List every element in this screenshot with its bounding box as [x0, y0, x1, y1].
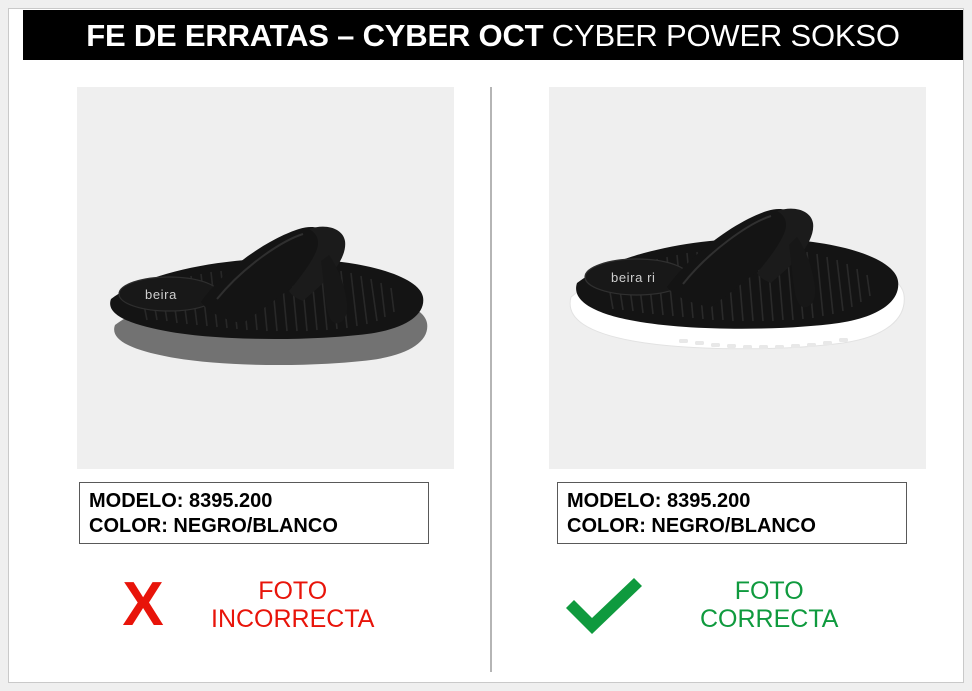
header-bar: FE DE ERRATAS – CYBER OCT CYBER POWER SO…: [23, 10, 963, 60]
verdict-text-incorrect: FOTO INCORRECTA: [211, 577, 374, 633]
page-title-bold: FE DE ERRATAS – CYBER OCT: [86, 18, 543, 53]
cross-icon-glyph: X: [122, 574, 163, 636]
product-photo-correct: beira ri: [549, 87, 926, 469]
verdict-line-1: FOTO: [700, 577, 838, 605]
color-line: COLOR: NEGRO/BLANCO: [89, 514, 428, 539]
product-photo-incorrect: beira: [77, 87, 454, 469]
brand-text-left: beira: [145, 287, 177, 302]
brand-text-right: beira ri: [611, 270, 656, 285]
panel-correct: beira ri MODELO: 8395.200 COLOR: NEGRO/B…: [486, 60, 963, 682]
verdict-text-correct: FOTO CORRECTA: [700, 577, 838, 633]
verdict-line-2: CORRECTA: [700, 605, 838, 633]
page-title-regular: CYBER POWER SOKSO: [543, 18, 899, 53]
page-title: FE DE ERRATAS – CYBER OCT CYBER POWER SO…: [86, 20, 900, 51]
panel-incorrect: beira MODELO: 8395.200 COLOR: NEGRO/BLAN…: [9, 60, 486, 682]
check-icon-glyph: [560, 574, 648, 636]
verdict-line-2: INCORRECTA: [211, 605, 374, 633]
verdict-line-1: FOTO: [211, 577, 374, 605]
verdict-incorrect: X FOTO INCORRECTA: [97, 565, 374, 645]
color-line: COLOR: NEGRO/BLANCO: [567, 514, 906, 539]
cross-icon: X: [97, 574, 189, 636]
model-line: MODELO: 8395.200: [567, 489, 906, 514]
comparison-columns: beira MODELO: 8395.200 COLOR: NEGRO/BLAN…: [9, 60, 963, 682]
sandal-illustration-black-white-sole: beira ri: [549, 87, 926, 469]
product-label-correct: MODELO: 8395.200 COLOR: NEGRO/BLANCO: [557, 482, 907, 544]
sandal-illustration-black: beira: [77, 87, 454, 469]
errata-card: FE DE ERRATAS – CYBER OCT CYBER POWER SO…: [8, 8, 964, 683]
check-icon: [558, 574, 650, 636]
model-line: MODELO: 8395.200: [89, 489, 428, 514]
product-label-incorrect: MODELO: 8395.200 COLOR: NEGRO/BLANCO: [79, 482, 429, 544]
verdict-correct: FOTO CORRECTA: [558, 565, 838, 645]
